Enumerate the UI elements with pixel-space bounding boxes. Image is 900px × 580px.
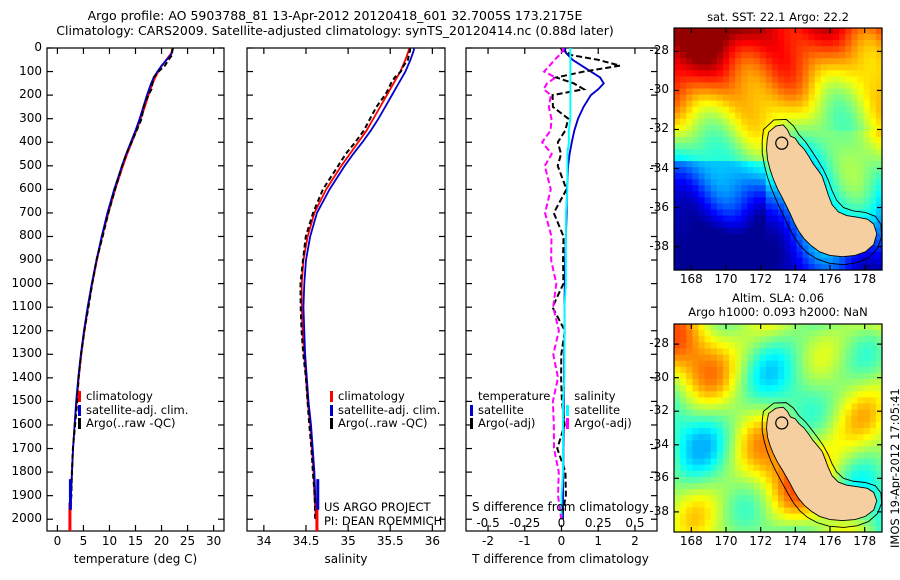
map-lon-tick-168: 168	[675, 534, 707, 548]
salinity-axis-label: salinity	[247, 552, 445, 566]
legend-label: satellite	[478, 404, 524, 418]
depth-tick-2000: 2000	[0, 511, 42, 525]
sst-map-title: sat. SST: 22.1 Argo: 22.2	[663, 10, 893, 24]
map-lat-tick--30: -30	[633, 370, 669, 384]
depth-tick-1200: 1200	[0, 323, 42, 337]
salinity-panel[interactable]: 3434.53535.536 salinity climatologysatel…	[236, 0, 458, 580]
legend-header: temperature	[478, 390, 550, 404]
depth-tick-1400: 1400	[0, 370, 42, 384]
diff-bottom-tick-0: -2	[472, 534, 504, 548]
salinity-legend: climatologysatellite-adj. clim.Argo(..ra…	[330, 390, 440, 431]
difference-legend: temperaturesatelliteArgo(-adj)salinitysa…	[470, 390, 655, 431]
legend-item-satellite-adj--clim-: satellite-adj. clim.	[78, 404, 188, 418]
salinity-xtick-labels: 3434.53535.536	[247, 534, 445, 550]
depth-tick-900: 900	[0, 252, 42, 266]
map-lon-tick-178: 178	[849, 272, 881, 286]
project-credit: US ARGO PROJECT PI: DEAN ROEMMICH	[324, 500, 442, 528]
depth-tick-1300: 1300	[0, 346, 42, 360]
sst-map-ytick-labels: -28-30-32-34-36-38	[663, 28, 672, 270]
temperature-axis-label: temperature (deg C)	[47, 552, 224, 566]
depth-tick-1500: 1500	[0, 393, 42, 407]
timestamp-rotated: IMOS 19-Apr-2012 17:05:41	[888, 548, 900, 562]
legend-label: satellite-adj. clim.	[86, 404, 188, 418]
diff-bottom-tick-3: 1	[582, 534, 614, 548]
depth-tick-labels: 0100200300400500600700800900100011001200…	[0, 48, 44, 531]
credit-line-1: US ARGO PROJECT	[324, 500, 442, 514]
diff-bottom-tick-2: 0	[546, 534, 578, 548]
depth-tick-400: 400	[0, 134, 42, 148]
legend-item-argo--adj-: Argo(-adj)	[470, 417, 550, 431]
map-lon-tick-174: 174	[779, 272, 811, 286]
difference-legend-column-temperature: temperaturesatelliteArgo(-adj)	[470, 390, 550, 431]
timestamp-label: IMOS 19-Apr-2012 17:05:41	[888, 388, 900, 548]
legend-swatch	[330, 391, 333, 402]
depth-tick-1600: 1600	[0, 417, 42, 431]
map-lat-tick--32: -32	[633, 403, 669, 417]
legend-item-satellite-adj--clim-: satellite-adj. clim.	[330, 404, 440, 418]
salinity-tick-34.5: 34.5	[286, 534, 326, 548]
temperature-xtick-labels: 051015202530	[47, 534, 224, 550]
legend-label: satellite	[574, 404, 620, 418]
map-lat-tick--32: -32	[633, 121, 669, 135]
temperature-legend: climatologysatellite-adj. clim.Argo(..ra…	[78, 390, 188, 431]
legend-label: Argo(-adj)	[574, 417, 631, 431]
legend-swatch	[470, 405, 473, 416]
temperature-tick-10: 10	[95, 534, 123, 548]
sla-map-title-line-2: Argo h1000: 0.093 h2000: NaN	[663, 305, 893, 319]
legend-label: Argo(..raw -QC)	[86, 417, 176, 431]
sst-map-panel[interactable]: sat. SST: 22.1 Argo: 22.2 16817017217417…	[663, 0, 900, 292]
legend-header: salinity	[574, 390, 631, 404]
depth-tick-100: 100	[0, 64, 42, 78]
map-lon-tick-176: 176	[814, 272, 846, 286]
legend-item-climatology: climatology	[330, 390, 440, 404]
salinity-tick-36: 36	[412, 534, 452, 548]
depth-tick-700: 700	[0, 205, 42, 219]
map-lat-tick--28: -28	[633, 43, 669, 57]
difference-bottom-xtick-labels: -2-1012	[466, 534, 657, 550]
sla-map-panel[interactable]: Altim. SLA: 0.06 Argo h1000: 0.093 h2000…	[663, 292, 900, 580]
map-lat-tick--34: -34	[633, 161, 669, 175]
legend-swatch	[470, 418, 473, 429]
difference-bottom-axis-label: T difference from climatology	[458, 552, 663, 566]
depth-tick-1800: 1800	[0, 464, 42, 478]
legend-swatch	[330, 418, 333, 429]
salinity-tick-34: 34	[244, 534, 284, 548]
legend-item-satellite: satellite	[566, 404, 631, 418]
map-lon-tick-170: 170	[710, 534, 742, 548]
credit-line-2: PI: DEAN ROEMMICH	[324, 514, 442, 528]
legend-label: Argo(..raw -QC)	[338, 417, 428, 431]
salinity-tick-35.5: 35.5	[370, 534, 410, 548]
sst-map-xtick-labels: 168170172174176178	[674, 272, 882, 288]
map-lat-tick--38: -38	[633, 239, 669, 253]
legend-label: satellite-adj. clim.	[338, 404, 440, 418]
temperature-tick-0: 0	[43, 534, 71, 548]
legend-swatch	[78, 391, 81, 402]
legend-item-argo---raw--qc-: Argo(..raw -QC)	[330, 417, 440, 431]
salinity-tick-35: 35	[328, 534, 368, 548]
legend-label: Argo(-adj)	[478, 417, 535, 431]
temperature-tick-30: 30	[200, 534, 228, 548]
map-lat-tick--30: -30	[633, 82, 669, 96]
sst-map-svg	[663, 0, 900, 292]
temperature-tick-25: 25	[174, 534, 202, 548]
legend-label: climatology	[86, 390, 153, 404]
temperature-tick-20: 20	[148, 534, 176, 548]
legend-item-climatology: climatology	[78, 390, 188, 404]
map-lon-tick-172: 172	[745, 272, 777, 286]
map-lon-tick-170: 170	[710, 272, 742, 286]
map-lat-tick--36: -36	[633, 200, 669, 214]
depth-tick-300: 300	[0, 111, 42, 125]
diff-top-tick-4: 0.5	[613, 516, 657, 530]
legend-swatch	[566, 405, 569, 416]
legend-swatch	[330, 405, 333, 416]
diff-bottom-tick-4: 2	[619, 534, 651, 548]
depth-tick-500: 500	[0, 158, 42, 172]
map-lon-tick-174: 174	[779, 534, 811, 548]
map-lon-tick-168: 168	[675, 272, 707, 286]
legend-swatch	[78, 418, 81, 429]
map-lon-tick-178: 178	[849, 534, 881, 548]
map-lat-tick--38: -38	[633, 504, 669, 518]
depth-tick-600: 600	[0, 181, 42, 195]
legend-item-argo--adj-: Argo(-adj)	[566, 417, 631, 431]
map-lon-tick-172: 172	[745, 534, 777, 548]
temperature-tick-15: 15	[122, 534, 150, 548]
legend-swatch	[78, 405, 81, 416]
temperature-panel[interactable]: 051015202530 temperature (deg C) 0100200…	[0, 0, 236, 580]
legend-swatch	[566, 418, 569, 429]
map-lon-tick-176: 176	[814, 534, 846, 548]
map-lat-tick--36: -36	[633, 470, 669, 484]
depth-tick-1700: 1700	[0, 441, 42, 455]
sla-map-title-line-1: Altim. SLA: 0.06	[663, 291, 893, 305]
depth-tick-200: 200	[0, 87, 42, 101]
salinity-plot-svg	[236, 0, 458, 580]
temperature-tick-5: 5	[69, 534, 97, 548]
sla-map-ytick-labels: -28-30-32-34-36-38	[663, 324, 672, 532]
sla-map-xtick-labels: 168170172174176178	[674, 534, 882, 550]
legend-item-argo---raw--qc-: Argo(..raw -QC)	[78, 417, 188, 431]
legend-label: climatology	[338, 390, 405, 404]
depth-tick-1100: 1100	[0, 299, 42, 313]
diff-bottom-tick-1: -1	[509, 534, 541, 548]
map-lat-tick--28: -28	[633, 336, 669, 350]
depth-tick-1900: 1900	[0, 488, 42, 502]
depth-tick-1000: 1000	[0, 276, 42, 290]
depth-tick-0: 0	[0, 40, 42, 54]
map-lat-tick--34: -34	[633, 437, 669, 451]
difference-legend-column-salinity: salinitysatelliteArgo(-adj)	[566, 390, 631, 431]
legend-item-satellite: satellite	[470, 404, 550, 418]
difference-top-xtick-labels: -0.5-0.2500.250.5	[466, 516, 657, 532]
depth-tick-800: 800	[0, 228, 42, 242]
